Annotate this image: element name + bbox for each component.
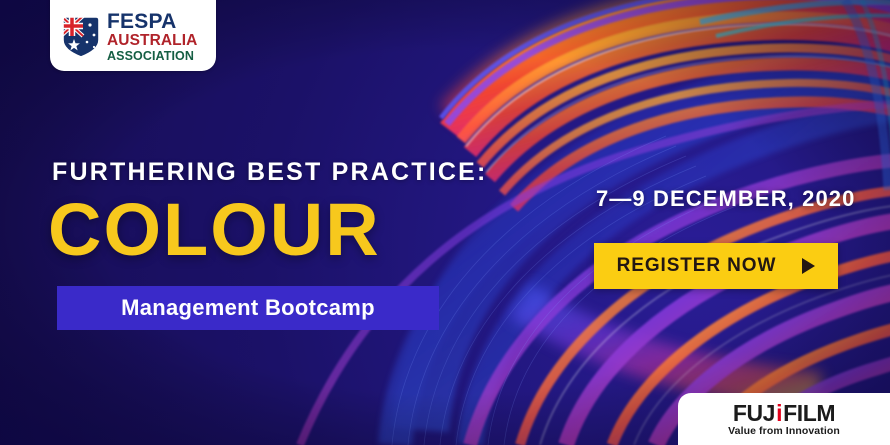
promotional-banner: FESPA AUSTRALIA ASSOCIATION FURTHERING B… <box>0 0 890 445</box>
fujifilm-sponsor-card[interactable]: FUJ i FILM Value from Innovation <box>678 393 890 445</box>
fujifilm-tagline: Value from Innovation <box>728 426 840 437</box>
event-dates: 7—9 DECEMBER, 2020 <box>596 186 855 212</box>
logo-line-fespa: FESPA <box>107 11 197 32</box>
subtitle-text: Management Bootcamp <box>121 295 375 321</box>
register-now-button[interactable]: REGISTER NOW <box>594 243 838 289</box>
fujifilm-name-part1: FUJ <box>733 402 775 425</box>
register-button-label: REGISTER NOW <box>617 255 777 277</box>
logo-line-association: ASSOCIATION <box>107 50 197 63</box>
fespa-logo-card[interactable]: FESPA AUSTRALIA ASSOCIATION <box>50 0 216 71</box>
page-title: COLOUR <box>48 193 381 267</box>
logo-line-australia: AUSTRALIA <box>107 33 197 49</box>
australian-flag-icon <box>61 16 101 58</box>
fujifilm-wordmark: FUJ i FILM <box>733 402 835 425</box>
headline-kicker: FURTHERING BEST PRACTICE: <box>52 158 488 187</box>
fujifilm-name-part2: FILM <box>783 402 835 425</box>
fujifilm-red-mark: i <box>775 402 783 425</box>
play-arrow-icon <box>802 258 815 274</box>
subtitle-bar: Management Bootcamp <box>57 286 439 330</box>
fespa-wordmark: FESPA AUSTRALIA ASSOCIATION <box>107 11 197 62</box>
